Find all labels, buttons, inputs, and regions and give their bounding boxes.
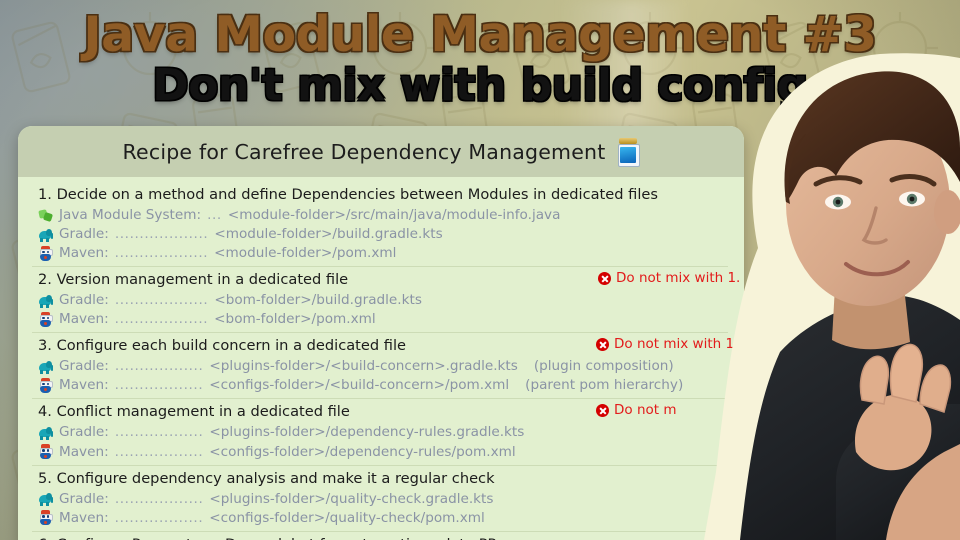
maven-icon (38, 246, 53, 261)
file-path: <configs-folder>/dependency-rules/pom.xm… (209, 443, 515, 461)
section-title: 5. Configure dependency analysis and mak… (38, 470, 744, 489)
tool-label: Java Module System: (59, 206, 201, 224)
dot-leader: ................... (115, 225, 209, 243)
file-path: <plugins-folder>/<build-concern>.gradle.… (209, 357, 517, 375)
file-path: <configs-folder>/quality-check/pom.xml (209, 509, 485, 527)
file-path: <configs-folder>/<build-concern>/pom.xml (209, 376, 509, 394)
error-x-circle-icon (596, 404, 609, 417)
tool-label: Gradle: (59, 291, 109, 309)
dot-leader: .................. (115, 376, 204, 394)
file-path: <bom-folder>/pom.xml (214, 310, 376, 328)
tool-file-row: Maven:...................<bom-folder>/po… (38, 310, 744, 328)
tool-file-row: Java Module System:...<module-folder>/sr… (38, 206, 744, 224)
file-path: <plugins-folder>/dependency-rules.gradle… (209, 423, 524, 441)
section-title-text: 5. Configure dependency analysis and mak… (38, 470, 495, 489)
tool-label: Maven: (59, 244, 109, 262)
gradle-elephant-icon (38, 491, 53, 506)
tool-file-row: Maven:...................<module-folder>… (38, 244, 744, 262)
recipe-sections: 1. Decide on a method and define Depende… (18, 177, 744, 540)
recipe-section: 4. Conflict management in a dedicated fi… (18, 398, 744, 464)
tool-label: Maven: (59, 509, 109, 527)
file-path: <bom-folder>/build.gradle.kts (214, 291, 422, 309)
maven-icon (38, 510, 53, 525)
section-title: 6. Configure Renovate or Dependabot for … (38, 536, 744, 540)
presenter-illustration (640, 52, 960, 540)
tool-file-row: Maven:..................<configs-folder>… (38, 509, 744, 527)
section-title: 1. Decide on a method and define Depende… (38, 186, 744, 205)
tool-file-row: Gradle:...................<bom-folder>/b… (38, 291, 744, 309)
card-title: Recipe for Carefree Dependency Managemen… (123, 140, 606, 164)
tool-file-row: Maven:..................<configs-folder>… (38, 443, 744, 461)
section-title-text: 2. Version management in a dedicated fil… (38, 271, 348, 290)
recipe-section: 5. Configure dependency analysis and mak… (18, 465, 744, 531)
tool-label: Gradle: (59, 490, 109, 508)
tool-label: Gradle: (59, 225, 109, 243)
maven-icon (38, 312, 53, 327)
dot-leader: ................... (115, 244, 209, 262)
java-duke-icon (38, 208, 53, 223)
section-title-text: 4. Conflict management in a dedicated fi… (38, 403, 350, 422)
dot-leader: .................. (115, 357, 204, 375)
card-header: Recipe for Carefree Dependency Managemen… (18, 126, 744, 177)
section-title-text: 1. Decide on a method and define Depende… (38, 186, 658, 205)
recipe-section: 6. Configure Renovate or Dependabot for … (18, 531, 744, 540)
maven-icon (38, 444, 53, 459)
error-x-circle-icon (596, 338, 609, 351)
tool-file-row: Gradle:..................<plugins-folder… (38, 423, 744, 441)
gradle-elephant-icon (38, 293, 53, 308)
tool-file-row: Gradle:..................<plugins-folder… (38, 490, 744, 508)
dot-leader: ................... (115, 310, 209, 328)
tool-file-row: Gradle:..................<plugins-folder… (38, 357, 744, 375)
section-title-text: 6. Configure Renovate or Dependabot for … (38, 536, 505, 540)
dot-leader: ... (207, 206, 222, 224)
error-x-circle-icon (598, 272, 611, 285)
tool-label: Maven: (59, 376, 109, 394)
recipe-section: 2. Version management in a dedicated fil… (18, 266, 744, 332)
tool-label: Maven: (59, 310, 109, 328)
video-thumbnail: Java Module Management #3 Don't mix with… (0, 0, 960, 540)
gradle-elephant-icon (38, 227, 53, 242)
tool-label: Gradle: (59, 357, 109, 375)
dot-leader: .................. (115, 423, 204, 441)
file-path: <module-folder>/pom.xml (214, 244, 396, 262)
section-title-text: 3. Configure each build concern in a ded… (38, 337, 406, 356)
tool-label: Maven: (59, 443, 109, 461)
presenter-cutout (640, 52, 960, 540)
maven-icon (38, 378, 53, 393)
file-path: <module-folder>/build.gradle.kts (214, 225, 442, 243)
tool-file-row: Gradle:...................<module-folder… (38, 225, 744, 243)
tool-file-row: Maven:..................<configs-folder>… (38, 376, 744, 394)
tool-label: Gradle: (59, 423, 109, 441)
dot-leader: .................. (115, 443, 204, 461)
recipe-section: 1. Decide on a method and define Depende… (18, 181, 744, 266)
recipe-section: 3. Configure each build concern in a ded… (18, 332, 744, 398)
dot-leader: .................. (115, 509, 204, 527)
recipe-card: Recipe for Carefree Dependency Managemen… (18, 126, 744, 540)
dot-leader: ................... (115, 291, 209, 309)
jar-icon (617, 138, 639, 166)
dot-leader: .................. (115, 490, 204, 508)
gradle-elephant-icon (38, 425, 53, 440)
gradle-elephant-icon (38, 359, 53, 374)
file-path: <module-folder>/src/main/java/module-inf… (228, 206, 561, 224)
file-path: <plugins-folder>/quality-check.gradle.kt… (209, 490, 493, 508)
